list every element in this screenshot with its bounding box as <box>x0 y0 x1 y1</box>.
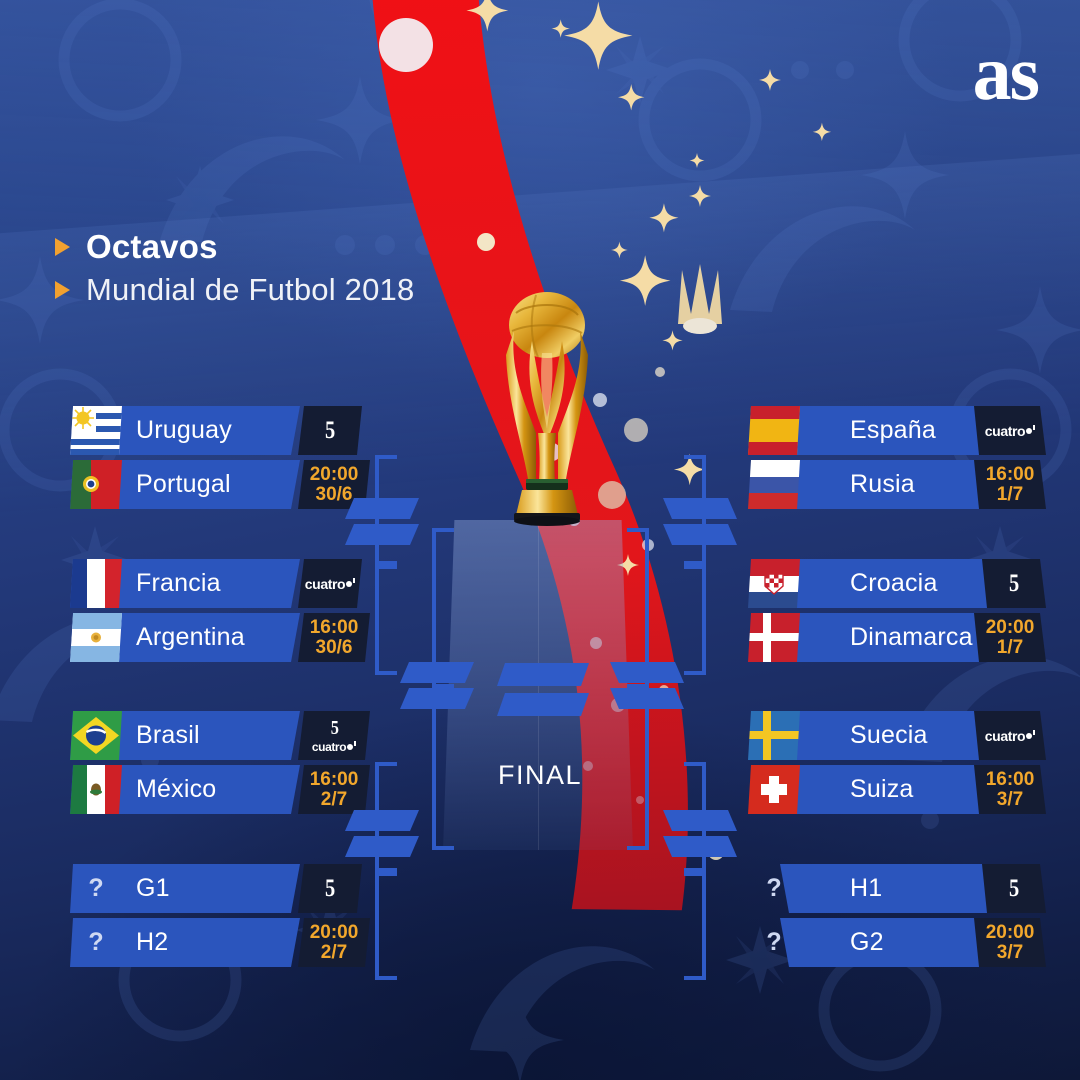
team-name: Portugal <box>136 460 231 509</box>
team-bar: Argentina <box>70 613 300 662</box>
team-bar: H1 <box>780 864 1010 913</box>
channel-badge: 5 cuatro <box>298 711 370 760</box>
page-subtitle: Mundial de Futbol 2018 <box>86 272 414 308</box>
bracket-line-left-2 <box>375 565 379 675</box>
match-espana-rusia[interactable]: España cuatro Rusia <box>748 406 1010 514</box>
team-name: Argentina <box>136 613 245 662</box>
page-title: Octavos <box>86 228 218 266</box>
bracket-line-right-1 <box>702 455 706 565</box>
channel-badge: cuatro <box>974 711 1046 760</box>
match-date: 2/7 <box>321 790 347 810</box>
table-row[interactable]: Suecia cuatro <box>748 711 1010 760</box>
match-time: 20:00 <box>986 923 1035 943</box>
match-date: 30/6 <box>316 638 353 658</box>
flag-francia <box>70 559 122 608</box>
team-bar: Francia <box>70 559 300 608</box>
bracket-slot <box>663 498 737 519</box>
connector-quarterfinal-right-1 <box>663 498 737 550</box>
team-name: G1 <box>136 864 170 913</box>
bracket-slot <box>345 498 419 519</box>
telecinco-icon: 5 <box>1009 571 1018 596</box>
table-row[interactable]: Uruguay 5 <box>70 406 332 455</box>
table-row[interactable]: ? G1 5 <box>70 864 332 913</box>
team-bar: Croacia <box>780 559 1010 608</box>
telecinco-icon: 5 <box>330 718 337 738</box>
bracket-line-right-4 <box>702 872 706 980</box>
header-title-row: Octavos <box>55 228 414 266</box>
bracket-slot <box>400 662 474 683</box>
table-row[interactable]: Portugal 20:00 30/6 <box>70 460 332 509</box>
bracket-line-left-4 <box>375 872 379 980</box>
flag-portugal <box>70 460 122 509</box>
bracket-line-right-5 <box>645 528 649 688</box>
match-date: 1/7 <box>997 485 1023 505</box>
telecinco-icon: 5 <box>325 418 334 443</box>
channel-badge: cuatro <box>974 406 1046 455</box>
final-label: FINAL <box>0 760 1080 791</box>
table-row[interactable]: Francia cuatro <box>70 559 332 608</box>
team-bar: Uruguay <box>70 406 300 455</box>
bracket-slot-final-top <box>497 663 589 686</box>
bracket-line-left-5 <box>432 528 436 688</box>
telecinco-icon: 5 <box>1009 876 1018 901</box>
triangle-bullet-icon <box>55 281 70 299</box>
flag-rusia <box>748 460 800 509</box>
match-g1-h2[interactable]: ? G1 5 ? H2 20:00 2/7 <box>70 864 332 972</box>
connector-quarterfinal-left-2 <box>345 810 419 862</box>
match-date: 3/7 <box>997 943 1023 963</box>
final-slots <box>497 663 589 723</box>
match-date: 3/7 <box>997 790 1023 810</box>
team-name: Croacia <box>850 559 938 608</box>
connector-quarterfinal-right-2 <box>663 810 737 862</box>
bracket-slot <box>663 524 737 545</box>
table-row[interactable]: Brasil 5 cuatro <box>70 711 332 760</box>
header-block: Octavos Mundial de Futbol 2018 <box>55 228 414 314</box>
cuatro-icon: cuatro <box>985 729 1035 743</box>
cuatro-icon: cuatro <box>985 424 1035 438</box>
unknown-team-icon: ? <box>70 864 122 913</box>
flag-espana <box>748 406 800 455</box>
cuatro-icon: cuatro <box>312 741 356 753</box>
team-bar: ? G1 <box>70 864 300 913</box>
bracket-slot <box>345 810 419 831</box>
table-row[interactable]: Argentina 16:00 30/6 <box>70 613 332 662</box>
match-date: 2/7 <box>321 943 347 963</box>
bracket-slot <box>663 836 737 857</box>
team-name: Dinamarca <box>850 613 973 662</box>
team-name: H1 <box>850 864 882 913</box>
bracket-slot <box>345 524 419 545</box>
team-name: España <box>850 406 936 455</box>
table-row[interactable]: ? H2 20:00 2/7 <box>70 918 332 967</box>
unknown-team-icon: ? <box>748 864 800 913</box>
match-time: 20:00 <box>310 923 359 943</box>
match-time-badge: 20:00 2/7 <box>298 918 370 967</box>
channel-badge: 5 <box>298 406 362 455</box>
match-time: 16:00 <box>986 465 1035 485</box>
match-time-badge: 16:00 1/7 <box>974 460 1046 509</box>
bracket-slot <box>345 836 419 857</box>
match-time: 20:00 <box>310 465 359 485</box>
table-row[interactable]: Dinamarca 20:00 1/7 <box>748 613 1010 662</box>
bracket-line-right-2 <box>702 565 706 675</box>
match-time: 20:00 <box>986 618 1035 638</box>
match-date: 1/7 <box>997 638 1023 658</box>
team-bar: Portugal <box>70 460 300 509</box>
match-time-badge: 20:00 3/7 <box>974 918 1046 967</box>
team-bar: Brasil <box>70 711 300 760</box>
flag-croacia <box>748 559 800 608</box>
team-name: Brasil <box>136 711 200 760</box>
telecinco-icon: 5 <box>325 876 334 901</box>
team-name: H2 <box>136 918 168 967</box>
bracket-slot <box>663 810 737 831</box>
channel-badge: 5 <box>298 864 362 913</box>
bracket-slot-final-bottom <box>497 693 589 716</box>
team-name: G2 <box>850 918 884 967</box>
team-name: Rusia <box>850 460 915 509</box>
table-row[interactable]: Croacia 5 <box>748 559 1010 608</box>
match-croacia-dinamarca[interactable]: Croacia 5 Dinamarca <box>748 559 1010 667</box>
team-name: Francia <box>136 559 221 608</box>
team-name: Uruguay <box>136 406 232 455</box>
match-time-badge: 16:00 30/6 <box>298 613 370 662</box>
table-row[interactable]: España cuatro <box>748 406 1010 455</box>
connector-semifinal-left <box>400 662 474 714</box>
channel-badge: cuatro <box>298 559 362 608</box>
flag-dinamarca <box>748 613 800 662</box>
flag-argentina <box>70 613 122 662</box>
table-row[interactable]: G2 ? 20:00 3/7 <box>748 918 1010 967</box>
match-time-badge: 20:00 1/7 <box>974 613 1046 662</box>
bracket-line-left-1 <box>375 455 379 565</box>
flag-uruguay <box>70 406 122 455</box>
flag-brasil <box>70 711 122 760</box>
channel-badge: 5 <box>982 559 1046 608</box>
unknown-team-icon: ? <box>748 918 800 967</box>
match-time: 16:00 <box>310 618 359 638</box>
match-francia-argentina[interactable]: Francia cuatro Argentina 16: <box>70 559 332 667</box>
team-name: Suecia <box>850 711 928 760</box>
team-bar: ? H2 <box>70 918 300 967</box>
telecinco-cuatro-icons: 5 cuatro <box>312 718 356 753</box>
triangle-bullet-icon <box>55 238 70 256</box>
as-logo: as <box>973 34 1038 112</box>
table-row[interactable]: Rusia 16:00 1/7 <box>748 460 1010 509</box>
unknown-team-icon: ? <box>70 918 122 967</box>
flag-suecia <box>748 711 800 760</box>
header-subtitle-row: Mundial de Futbol 2018 <box>55 272 414 308</box>
table-row[interactable]: H1 ? 5 <box>748 864 1010 913</box>
infographic-canvas: as Octavos Mundial de Futbol 2018 <box>0 0 1080 1080</box>
connector-quarterfinal-left-1 <box>345 498 419 550</box>
channel-badge: 5 <box>982 864 1046 913</box>
match-uruguay-portugal[interactable]: Uruguay 5 Portugal 20:00 30/6 <box>70 406 332 514</box>
match-h1-g2[interactable]: H1 ? 5 G2 ? 20:00 3/7 <box>748 864 1010 972</box>
cuatro-icon: cuatro <box>305 577 355 591</box>
